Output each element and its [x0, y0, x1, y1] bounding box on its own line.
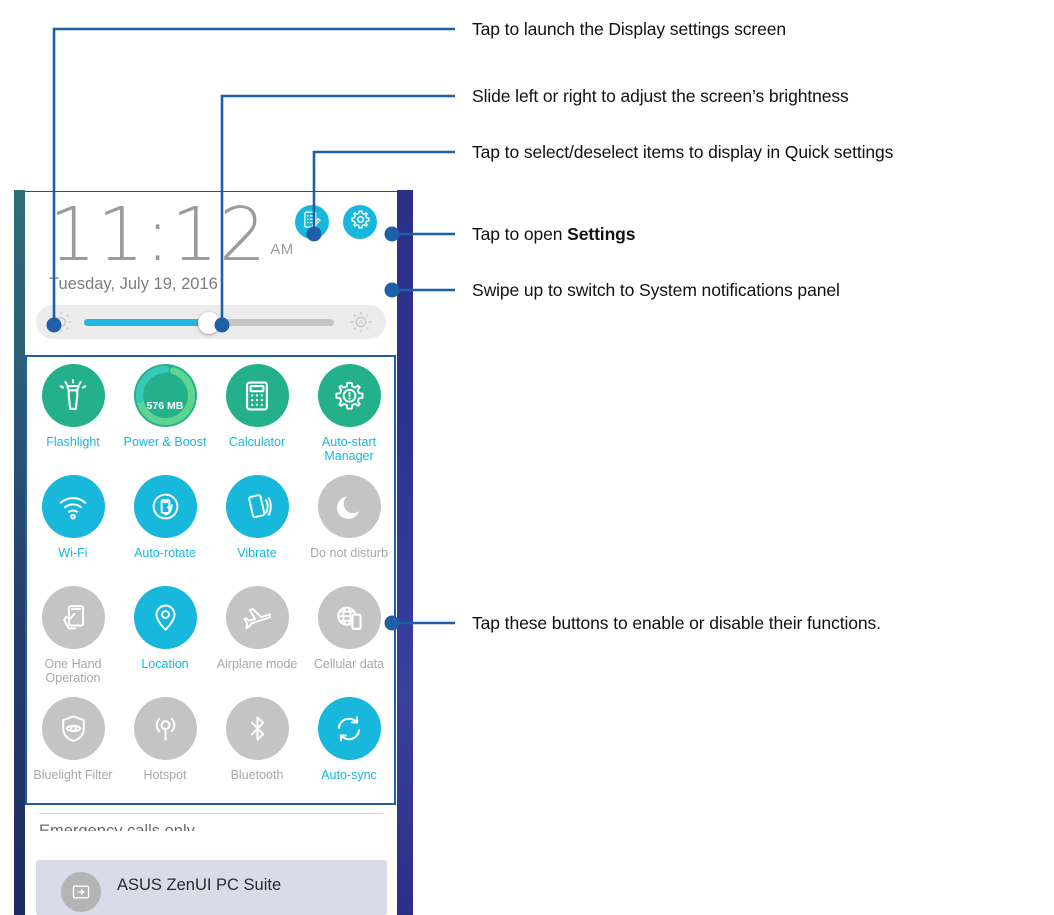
- edit-quick-settings-button[interactable]: [295, 205, 329, 239]
- phone-bezel-right: [397, 190, 413, 915]
- annotation-brightness: Slide left or right to adjust the screen…: [472, 86, 849, 107]
- status-text: Emergency calls only: [39, 822, 195, 831]
- phone-bezel-left: [14, 190, 25, 915]
- brightness-slider[interactable]: A: [36, 305, 386, 339]
- svg-text:A: A: [359, 320, 364, 327]
- annotation-open-settings: Tap to open Settings: [472, 224, 635, 245]
- brightness-fill: [84, 319, 209, 326]
- settings-button[interactable]: [343, 205, 377, 239]
- clock-time: 11:12: [49, 200, 267, 270]
- divider: [39, 813, 383, 814]
- edit-list-icon: [302, 210, 322, 235]
- brightness-track[interactable]: [84, 319, 334, 326]
- gear-icon: [350, 209, 371, 235]
- clock-date: Tuesday, July 19, 2016: [49, 275, 218, 294]
- brightness-knob[interactable]: [198, 312, 220, 334]
- clock-ampm: AM: [270, 241, 294, 258]
- lockscreen-clock: 11:12 AM: [49, 200, 294, 270]
- notification-title: ASUS ZenUI PC Suite: [117, 876, 281, 895]
- brightness-low-icon[interactable]: [48, 309, 74, 335]
- app-icon: [61, 872, 101, 912]
- quick-settings-panel: 11:12 AM Tuesday, July 19, 2016: [25, 191, 397, 831]
- annotation-display-settings: Tap to launch the Display settings scree…: [472, 19, 786, 40]
- annotation-quick-settings-edit: Tap to select/deselect items to display …: [472, 142, 893, 163]
- annotation-system-notifications: Swipe up to switch to System notificatio…: [472, 280, 840, 301]
- annotation-toggle-buttons: Tap these buttons to enable or disable t…: [472, 613, 881, 634]
- quick-settings-highlight-box: [25, 355, 396, 805]
- notification-card[interactable]: ASUS ZenUI PC Suite: [36, 860, 387, 915]
- brightness-auto-icon[interactable]: A: [348, 309, 374, 335]
